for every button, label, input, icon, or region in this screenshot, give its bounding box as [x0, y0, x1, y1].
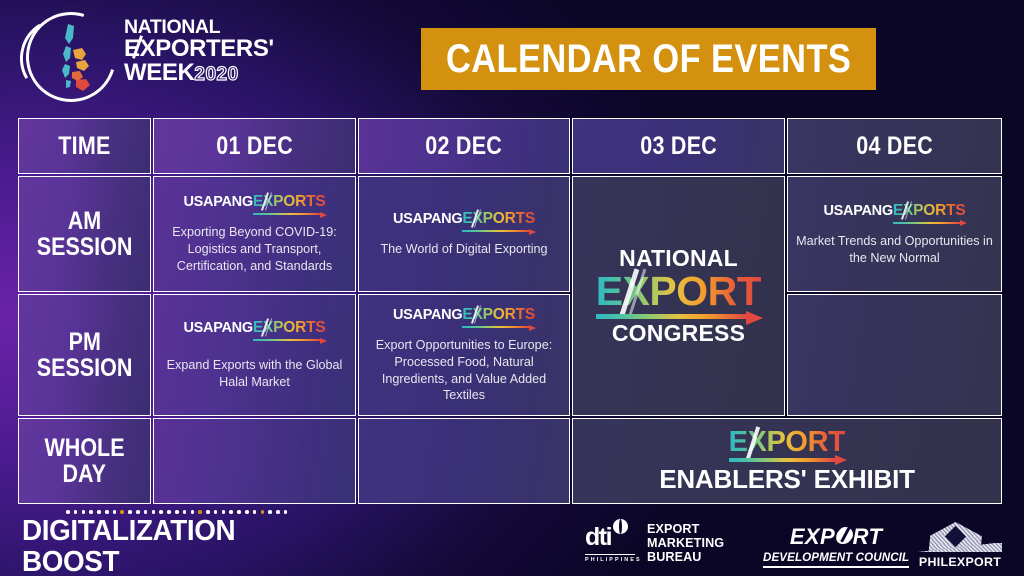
whole-day-01-dec-empty[interactable] — [153, 418, 356, 504]
exports-underline-bar — [893, 222, 960, 224]
digitalization-boost-campaign: DIGITALIZATION BOOST INVIGORATING EXPORT… — [22, 510, 312, 576]
edc-globe-icon — [838, 527, 853, 542]
export-wordmark: EXPORT — [596, 271, 762, 321]
session-description: Expand Exports with the Global Halal Mar… — [162, 357, 347, 390]
usapang-exports-logo: USAPANG EXPORTS — [393, 210, 535, 232]
session-description: Exporting Beyond COVID-19: Logistics and… — [162, 224, 347, 274]
session-description: Export Opportunities to Europe: Processe… — [367, 337, 561, 404]
export-arrow-icon — [746, 311, 763, 325]
exports-underline-bar — [253, 213, 320, 215]
exports-wordmark: EXPORTS — [462, 210, 535, 232]
logo-export-development-council: EXPORT DEVELOPMENT COUNCIL — [763, 524, 909, 568]
session-description: The World of Digital Exporting — [380, 241, 547, 258]
dti-globe-icon — [613, 519, 628, 534]
session-description: Market Trends and Opportunities in the N… — [796, 233, 993, 266]
exports-arrow-icon — [960, 220, 967, 226]
export-wordmark: EXPORT — [729, 428, 846, 463]
whole-day-export-enablers-exhibit[interactable]: EXPORT ENABLERS' EXHIBIT — [572, 418, 1002, 504]
usapang-exports-logo: USAPANG EXPORTS — [823, 202, 965, 224]
export-arrow-icon — [835, 455, 847, 465]
column-header-time: TIME — [18, 118, 151, 174]
session-am-02-dec[interactable]: USAPANG EXPORTS The World of Digital Exp… — [358, 176, 570, 292]
session-am-04-dec[interactable]: USAPANG EXPORTS Market Trends and Opport… — [787, 176, 1002, 292]
usapang-exports-logo: USAPANG EXPORTS — [393, 306, 535, 328]
column-header-03-dec: 03 DEC — [572, 118, 785, 174]
exports-arrow-icon — [320, 338, 327, 344]
logo-line-week: WEEK2020 — [124, 61, 274, 85]
logo-line-exporters: EXPORTERS' — [124, 37, 274, 61]
exports-wordmark: EXPORTS — [253, 193, 326, 215]
exports-wordmark: EXPORTS — [462, 306, 535, 328]
column-header-04-dec: 04 DEC — [787, 118, 1002, 174]
row-label-am-session: AM SESSION — [18, 176, 151, 292]
exports-arrow-icon — [529, 325, 536, 331]
philippines-map-icon — [52, 22, 98, 94]
row-label-pm-session: PM SESSION — [18, 294, 151, 416]
page-footer: DIGITALIZATION BOOST INVIGORATING EXPORT… — [0, 502, 1024, 576]
exports-arrow-icon — [529, 229, 536, 235]
session-pm-01-dec[interactable]: USAPANG EXPORTS Expand Exports with the … — [153, 294, 356, 416]
exports-arrow-icon — [320, 212, 327, 218]
emb-wordmark: EXPORT MARKETING BUREAU — [647, 522, 724, 564]
column-header-01-dec: 01 DEC — [153, 118, 356, 174]
dti-rule — [585, 554, 635, 556]
usapang-exports-logo: USAPANG EXPORTS — [183, 319, 325, 341]
national-export-congress-logo: NATIONAL EXPORT CONGRESS — [596, 245, 762, 347]
export-enablers-exhibit-logo: EXPORT ENABLERS' EXHIBIT — [659, 428, 915, 495]
logo-dti-export-marketing-bureau: dti PHILIPPINES EXPORT MARKETING BUREAU — [585, 522, 724, 564]
page-header: NATIONAL EXPORTERS' WEEK2020 CALENDAR OF… — [0, 0, 1024, 112]
export-underline-bar — [729, 458, 836, 462]
exports-underline-bar — [462, 326, 529, 328]
dti-mark-icon: dti PHILIPPINES — [585, 523, 639, 563]
logo-wordmark: NATIONAL EXPORTERS' WEEK2020 — [124, 18, 274, 84]
schedule-table: TIME 01 DEC 02 DEC 03 DEC 04 DEC AM SESS… — [18, 118, 1006, 500]
page-title-banner: CALENDAR OF EVENTS — [421, 28, 876, 90]
row-label-whole-day: WHOLE DAY — [18, 418, 151, 504]
session-pm-02-dec[interactable]: USAPANG EXPORTS Export Opportunities to … — [358, 294, 570, 416]
exports-underline-bar — [253, 339, 320, 341]
philexport-roof-icon — [912, 520, 1008, 556]
logo-year: 2020 — [194, 64, 238, 85]
philexport-wordmark: PHILEXPORT — [910, 555, 1010, 569]
national-exporters-week-logo: NATIONAL EXPORTERS' WEEK2020 — [18, 8, 268, 104]
edc-subtitle: DEVELOPMENT COUNCIL — [763, 551, 909, 564]
logo-philexport: PHILEXPORT — [910, 520, 1010, 569]
logo-line-exporters-text: EXPORTERS' — [124, 35, 274, 62]
whole-day-02-dec-empty[interactable] — [358, 418, 570, 504]
column-header-02-dec: 02 DEC — [358, 118, 570, 174]
exports-wordmark: EXPORTS — [253, 319, 326, 341]
page-title: CALENDAR OF EVENTS — [446, 37, 851, 82]
edc-rule — [763, 566, 909, 568]
edc-export-word: EXPORT — [790, 524, 882, 550]
usapang-exports-logo: USAPANG EXPORTS — [183, 193, 325, 215]
export-underline-bar — [596, 314, 748, 319]
campaign-headline: DIGITALIZATION BOOST — [22, 516, 300, 576]
session-pm-04-dec-empty[interactable] — [787, 294, 1002, 416]
exports-underline-bar — [462, 230, 529, 232]
exports-wordmark: EXPORTS — [893, 202, 966, 224]
partner-logos: dti PHILIPPINES EXPORT MARKETING BUREAU … — [585, 512, 1010, 570]
session-national-export-congress[interactable]: NATIONAL EXPORT CONGRESS — [572, 176, 785, 416]
logo-line-week-text: WEEK — [124, 59, 194, 86]
session-am-01-dec[interactable]: USAPANG EXPORTS Exporting Beyond COVID-1… — [153, 176, 356, 292]
